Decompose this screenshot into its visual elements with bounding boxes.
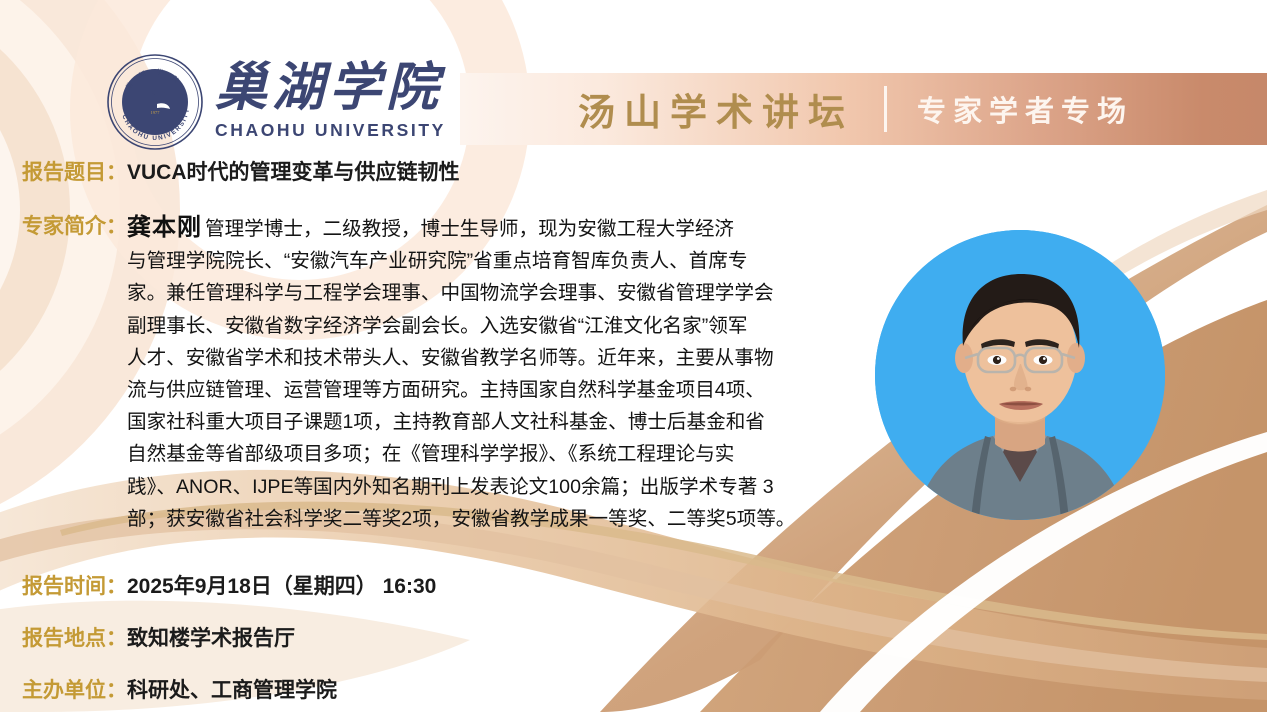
banner-main-title: 汤山学术讲坛: [578, 82, 854, 136]
speaker-bio-label: 专家简介：: [22, 212, 127, 242]
speaker-bio-row: 专家简介： 龚本刚管理学博士，二级教授，博士生导师，现为安徽工程大学经济 与管理…: [22, 212, 882, 535]
lecture-place-value: 致知楼学术报告厅: [127, 624, 295, 654]
lecture-time-row: 报告时间： 2025年9月18日（星期四） 16:30: [22, 572, 436, 602]
logo-name-cn: 巢湖学院: [215, 63, 446, 115]
bio-line: 部；获安徽省社会科学奖二等奖2项，安徽省教学成果一等奖、二等奖5项等。: [127, 503, 863, 535]
bio-line-text: 管理学博士，二级教授，博士生导师，现为安徽工程大学经济: [205, 218, 734, 240]
bio-line: 国家社科重大项目子课题1项，主持教育部人文社科基金、博士后基金和省: [127, 406, 863, 438]
bio-line: 与管理学院院长、“安徽汽车产业研究院”省重点培育智库负责人、首席专: [127, 245, 863, 277]
lecture-organizer-label: 主办单位：: [22, 676, 127, 706]
chaohu-university-seal-icon: 1977 巢 湖 学 院 CHAOHU UNIVERSITY: [105, 52, 205, 152]
lecture-place-label: 报告地点：: [22, 624, 127, 654]
lecture-place-row: 报告地点： 致知楼学术报告厅: [22, 624, 295, 654]
poster-canvas: 1977 巢 湖 学 院 CHAOHU UNIVERSITY 巢湖学院 CHAO…: [0, 0, 1267, 712]
lecture-title-row: 报告题目： VUCA时代的管理变革与供应链韧性: [22, 158, 460, 188]
lecture-time-label: 报告时间：: [22, 572, 127, 602]
lecture-title-value: VUCA时代的管理变革与供应链韧性: [127, 158, 460, 188]
bio-line: 践》、ANOR、IJPE等国内外知名期刊上发表论文100余篇；出版学术专著 3: [127, 471, 863, 503]
speaker-bio-body: 龚本刚管理学博士，二级教授，博士生导师，现为安徽工程大学经济 与管理学院院长、“…: [127, 212, 863, 535]
poster-header: 1977 巢 湖 学 院 CHAOHU UNIVERSITY 巢湖学院 CHAO…: [0, 0, 1267, 150]
event-series-banner: 汤山学术讲坛 专家学者专场: [460, 73, 1267, 145]
bio-line: 家。兼任管理科学与工程学会理事、中国物流学会理事、安徽省管理学学会: [127, 277, 863, 309]
speaker-name: 龚本刚: [127, 214, 202, 241]
university-logo: 1977 巢 湖 学 院 CHAOHU UNIVERSITY 巢湖学院 CHAO…: [105, 52, 446, 152]
svg-text:1977: 1977: [151, 110, 161, 115]
banner-subtitle: 专家学者专场: [917, 88, 1133, 130]
speaker-portrait-illustration: [875, 230, 1165, 520]
speaker-photo: [875, 230, 1165, 520]
bio-line: 龚本刚管理学博士，二级教授，博士生导师，现为安徽工程大学经济: [127, 212, 863, 245]
logo-name-en: CHAOHU UNIVERSITY: [215, 120, 446, 141]
bio-line: 人才、安徽省学术和技术带头人、安徽省教学名师等。近年来，主要从事物: [127, 342, 863, 374]
lecture-organizer-value: 科研处、工商管理学院: [127, 676, 337, 706]
banner-divider: [884, 86, 887, 132]
lecture-time-value: 2025年9月18日（星期四） 16:30: [127, 572, 436, 602]
bio-line: 自然基金等省部级项目多项；在《管理科学学报》、《系统工程理论与实: [127, 438, 863, 470]
lecture-organizer-row: 主办单位： 科研处、工商管理学院: [22, 676, 337, 706]
bio-line: 流与供应链管理、运营管理等方面研究。主持国家自然科学基金项目4项、: [127, 374, 863, 406]
bio-line: 副理事长、安徽省数字经济学会副会长。入选安徽省“江淮文化名家”领军: [127, 310, 863, 342]
lecture-title-label: 报告题目：: [22, 158, 127, 188]
